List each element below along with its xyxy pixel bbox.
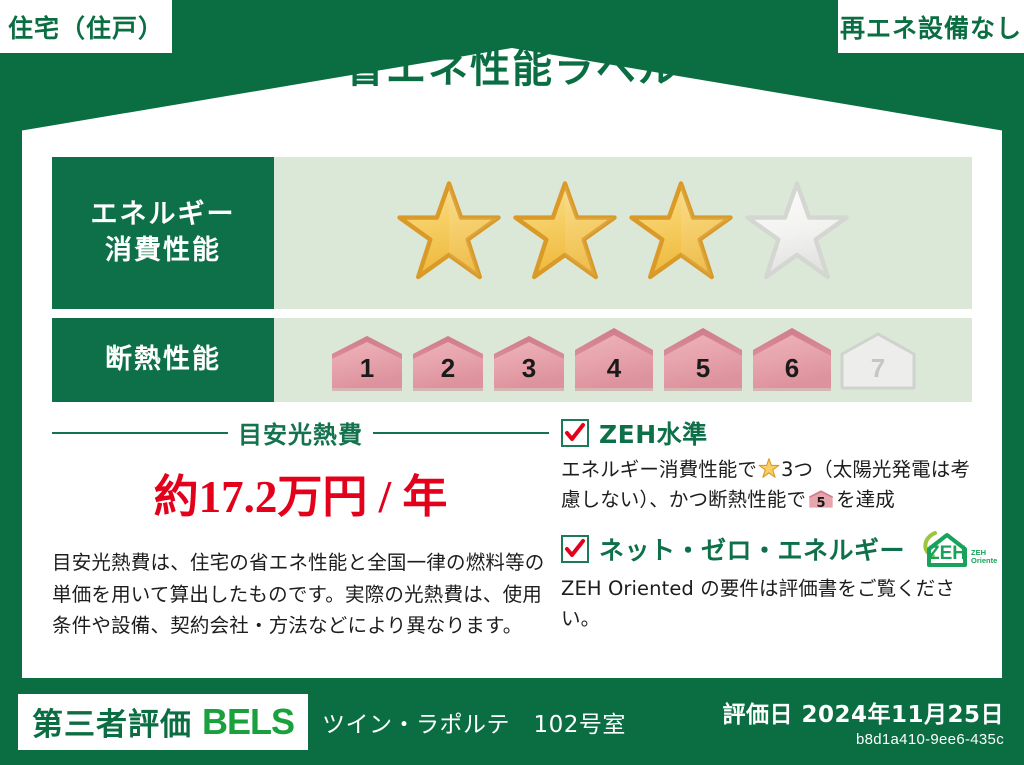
rating-rows: エネルギー 消費性能 (52, 157, 972, 411)
star-icon-filled-3 (626, 180, 736, 286)
bels-en-text: BELS (202, 701, 294, 743)
row-energy-body (274, 157, 972, 309)
house-icon-level-2: 2 (409, 332, 487, 392)
house-level-label: 5 (660, 353, 746, 384)
cost-value: 約17.2万円 / 年 (52, 460, 549, 525)
checkbox-zeh-net-zero[interactable] (561, 535, 589, 563)
zeh-desc-part1: エネルギー消費性能で (561, 458, 757, 481)
house-level-label: 4 (571, 353, 657, 384)
zeh-item-standard: ZEH水準 エネルギー消費性能で 3つ（太陽光発電は考慮しない）、かつ断熱性能で… (561, 415, 982, 516)
cost-rule-left (52, 432, 228, 434)
lower-content: 目安光熱費 約17.2万円 / 年 目安光熱費は、住宅の省エネ性能と全国一律の燃… (52, 415, 982, 642)
star-icon-empty-4 (742, 180, 852, 286)
check-icon (564, 538, 586, 560)
checkbox-zeh-standard[interactable] (561, 419, 589, 447)
house-level-label: 3 (490, 353, 568, 384)
zeh-netzero-label: ネット・ゼロ・エネルギー (599, 531, 905, 567)
badge-renewable-equipment: 再エネ設備なし (838, 0, 1024, 53)
house-icon-level-7: 7 (838, 330, 918, 392)
cost-heading: 目安光熱費 (238, 415, 363, 450)
cost-note: 目安光熱費は、住宅の省エネ性能と全国一律の燃料等の単価を用いて算出したものです。… (52, 547, 549, 642)
house-icon-level-1: 1 (328, 332, 406, 392)
zeh-netzero-desc: ZEH Oriented の要件は評価書をご覧ください。 (561, 574, 982, 635)
row-energy-performance: エネルギー 消費性能 (52, 157, 972, 309)
star-icon-filled-1 (394, 180, 504, 286)
inline-star-icon (758, 458, 780, 479)
zeh-logo-main-text: ZEH (928, 543, 966, 564)
row-energy-label: エネルギー 消費性能 (52, 157, 274, 309)
house-level-label: 2 (409, 353, 487, 384)
row-insulation-label: 断熱性能 (52, 318, 274, 402)
row-insulation-body: 1 2 3 (274, 318, 972, 402)
check-icon (564, 422, 586, 444)
cost-rule-right (373, 432, 549, 434)
zeh-standard-desc: エネルギー消費性能で 3つ（太陽光発電は考慮しない）、かつ断熱性能で 5 を達成 (561, 455, 982, 516)
zeh-standard-label: ZEH水準 (599, 415, 708, 451)
house-icon-level-6: 6 (749, 324, 835, 392)
zeh-logo-sub-line2: Oriented (971, 556, 997, 565)
building-name: ツイン・ラポルテ 102号室 (322, 705, 626, 739)
row-energy-label-line2: 消費性能 (105, 233, 221, 269)
zeh-section: ZEH水準 エネルギー消費性能で 3つ（太陽光発電は考慮しない）、かつ断熱性能で… (549, 415, 982, 642)
star-icon-filled-2 (510, 180, 620, 286)
row-insulation-performance: 断熱性能 (52, 318, 972, 402)
house-level-label: 1 (328, 353, 406, 384)
cost-heading-row: 目安光熱費 (52, 415, 549, 450)
evaluation-id: b8d1a410-9ee6-435c (722, 731, 1004, 748)
badge-housing-type: 住宅（住戸） (0, 0, 172, 53)
bels-jp-text: 第三者評価 (32, 699, 192, 744)
inline-house-level-icon: 5 (808, 488, 834, 510)
cost-section: 目安光熱費 約17.2万円 / 年 目安光熱費は、住宅の省エネ性能と全国一律の燃… (52, 415, 549, 642)
star-rating (394, 180, 852, 286)
zeh-desc-part3: を達成 (836, 488, 895, 511)
zeh-oriented-logo: ZEH ZEH Oriented (919, 528, 997, 570)
insulation-scale: 1 2 3 (328, 324, 918, 396)
bels-logo: 第三者評価 BELS (18, 694, 308, 750)
house-icon-level-3: 3 (490, 332, 568, 392)
zeh-item-net-zero: ネット・ゼロ・エネルギー ZEH ZEH Oriented ZEH Orient… (561, 528, 982, 635)
inline-house-level-value: 5 (808, 497, 834, 510)
zeh-standard-title-row: ZEH水準 (561, 415, 982, 451)
footer-bar: 第三者評価 BELS ツイン・ラポルテ 102号室 評価日 2024年11月25… (0, 678, 1024, 765)
house-level-label: 6 (749, 353, 835, 384)
house-icon-level-4: 4 (571, 324, 657, 392)
house-level-label: 7 (838, 353, 918, 384)
evaluation-info: 評価日 2024年11月25日 b8d1a410-9ee6-435c (722, 695, 1004, 748)
house-icon-level-5: 5 (660, 324, 746, 392)
row-energy-label-line1: エネルギー (91, 197, 236, 233)
evaluation-date: 評価日 2024年11月25日 (722, 695, 1004, 729)
zeh-netzero-title-row: ネット・ゼロ・エネルギー ZEH ZEH Oriented (561, 528, 982, 570)
